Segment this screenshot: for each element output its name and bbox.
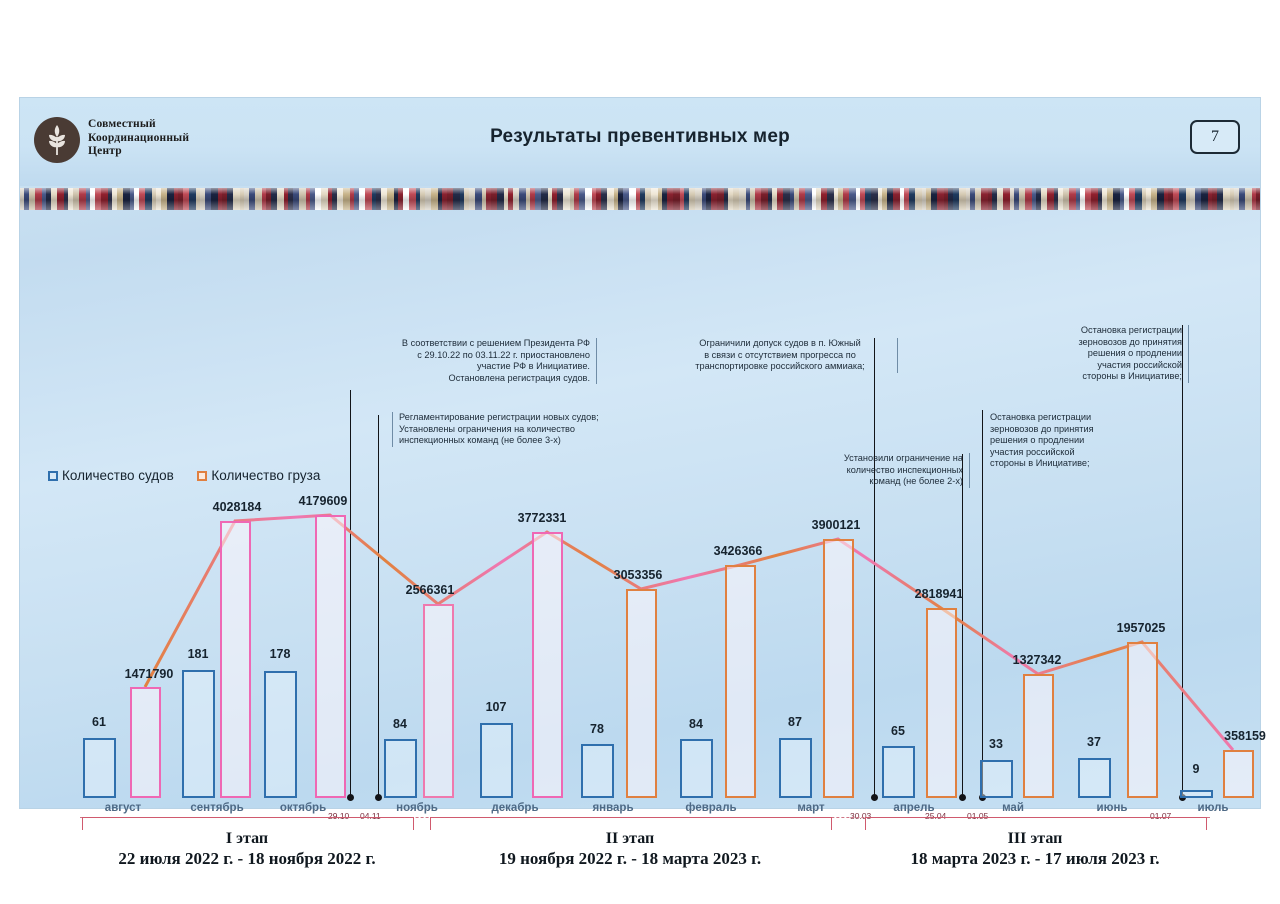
value-label-ships-10: 37 xyxy=(1073,735,1115,749)
value-label-cargo-9: 1327342 xyxy=(992,653,1082,667)
ribbon-segment xyxy=(497,188,504,210)
ribbon-segment xyxy=(1025,188,1032,210)
value-label-ships-7: 87 xyxy=(774,715,816,729)
ribbon-segment xyxy=(651,188,658,210)
stage-bracket-2 xyxy=(430,817,832,830)
value-label-ships-4: 107 xyxy=(475,700,517,714)
ribbon-segment xyxy=(123,188,130,210)
ribbon-segment xyxy=(1003,188,1010,210)
ribbon-segment xyxy=(541,188,548,210)
ribbon-segment xyxy=(1091,188,1098,210)
ribbon-segment xyxy=(1223,188,1230,210)
ribbon-segment xyxy=(1047,188,1054,210)
decorative-ribbon xyxy=(20,188,1260,210)
bar-ships-2 xyxy=(264,671,297,798)
ribbon-segment xyxy=(1113,188,1120,210)
bar-ships-9 xyxy=(980,760,1013,798)
stage-bracket-3 xyxy=(865,817,1207,830)
bar-cargo-7 xyxy=(823,539,854,798)
bar-cargo-5 xyxy=(626,589,657,798)
ribbon-segment xyxy=(79,188,86,210)
ribbon-segment xyxy=(783,188,790,210)
value-label-ships-9: 33 xyxy=(975,737,1017,751)
stage-1: I этап 22 июля 2022 г. - 18 ноября 2022 … xyxy=(52,830,442,869)
value-label-ships-2: 178 xyxy=(259,647,301,661)
value-label-cargo-0: 1471790 xyxy=(104,667,194,681)
ribbon-segment xyxy=(321,188,328,210)
value-label-cargo-10: 1957025 xyxy=(1096,621,1186,635)
stage-2-period: 19 ноября 2022 г. - 18 марта 2023 г. xyxy=(435,849,825,869)
bar-ships-5 xyxy=(581,744,614,798)
stage-bracket-1 xyxy=(82,817,414,830)
bar-cargo-1 xyxy=(220,521,251,798)
bar-ships-0 xyxy=(83,738,116,798)
ribbon-segment xyxy=(233,188,240,210)
bar-cargo-10 xyxy=(1127,642,1158,798)
ribbon-segment xyxy=(365,188,372,210)
stage-3: III этап 18 марта 2023 г. - 17 июля 2023… xyxy=(840,830,1230,869)
ribbon-segment xyxy=(827,188,834,210)
ribbon-segment xyxy=(211,188,218,210)
ribbon-segment xyxy=(57,188,64,210)
ribbon-segment xyxy=(673,188,680,210)
ribbon-segment xyxy=(409,188,416,210)
bar-ships-4 xyxy=(480,723,513,798)
value-label-ships-1: 181 xyxy=(177,647,219,661)
ribbon-segment xyxy=(761,188,768,210)
value-label-cargo-5: 3053356 xyxy=(593,568,683,582)
value-label-ships-3: 84 xyxy=(379,717,421,731)
ribbon-segment xyxy=(805,188,812,210)
stage-1-period: 22 июля 2022 г. - 18 ноября 2022 г. xyxy=(52,849,442,869)
stage-2-name: II этап xyxy=(435,830,825,848)
value-label-cargo-3: 2566361 xyxy=(385,583,475,597)
ribbon-segment xyxy=(145,188,152,210)
value-label-ships-6: 84 xyxy=(675,717,717,731)
ribbon-segment xyxy=(1245,188,1252,210)
ribbon-segment xyxy=(277,188,284,210)
stage-2: II этап 19 ноября 2022 г. - 18 марта 202… xyxy=(435,830,825,869)
bar-cargo-9 xyxy=(1023,674,1054,798)
bar-ships-7 xyxy=(779,738,812,798)
bar-cargo-11 xyxy=(1223,750,1254,798)
stage-3-name: III этап xyxy=(840,830,1230,848)
stage-3-period: 18 марта 2023 г. - 17 июля 2023 г. xyxy=(840,849,1230,869)
ribbon-segment xyxy=(35,188,42,210)
stage-1-name: I этап xyxy=(52,830,442,848)
bar-cargo-6 xyxy=(725,565,756,798)
ribbon-segment xyxy=(387,188,394,210)
ribbon-segment xyxy=(607,188,614,210)
value-label-ships-0: 61 xyxy=(78,715,120,729)
chart-area: Количество судов Количество груза В соот… xyxy=(20,210,1260,808)
bar-cargo-3 xyxy=(423,604,454,798)
ribbon-segment xyxy=(915,188,922,210)
ribbon-segment xyxy=(1069,188,1076,210)
value-label-cargo-8: 2818941 xyxy=(894,587,984,601)
ribbon-segment xyxy=(475,188,482,210)
value-label-ships-5: 78 xyxy=(576,722,618,736)
ribbon-segment xyxy=(255,188,262,210)
ribbon-segment xyxy=(695,188,702,210)
ribbon-segment xyxy=(629,188,636,210)
value-label-ships-11: 9 xyxy=(1175,762,1217,776)
slide: Совместный Координационный Центр Результ… xyxy=(20,98,1260,808)
stage-bracket-area: I этап 22 июля 2022 г. - 18 ноября 2022 … xyxy=(20,808,1260,898)
bar-cargo-4 xyxy=(532,532,563,798)
bar-ships-8 xyxy=(882,746,915,798)
value-label-cargo-7: 3900121 xyxy=(791,518,881,532)
value-label-cargo-4: 3772331 xyxy=(497,511,587,525)
bar-ships-10 xyxy=(1078,758,1111,798)
bar-ships-11 xyxy=(1180,790,1213,798)
ribbon-segment xyxy=(739,188,746,210)
ribbon-segment xyxy=(1256,188,1260,210)
ribbon-segment xyxy=(937,188,944,210)
slide-header: Совместный Координационный Центр Результ… xyxy=(20,98,1260,186)
ribbon-segment xyxy=(981,188,988,210)
ribbon-segment xyxy=(299,188,306,210)
value-label-ships-8: 65 xyxy=(877,724,919,738)
ribbon-segment xyxy=(431,188,438,210)
ribbon-segment xyxy=(1179,188,1186,210)
ribbon-segment xyxy=(101,188,108,210)
ribbon-segment xyxy=(717,188,724,210)
page-title: Результаты превентивных мер xyxy=(20,126,1260,148)
ribbon-segment xyxy=(1135,188,1142,210)
ribbon-segment xyxy=(1201,188,1208,210)
ribbon-segment xyxy=(959,188,966,210)
value-label-cargo-11: 358159 xyxy=(1200,729,1280,743)
ribbon-segment xyxy=(849,188,856,210)
ribbon-segment xyxy=(343,188,350,210)
bar-ships-3 xyxy=(384,739,417,798)
bar-ships-1 xyxy=(182,670,215,798)
ribbon-segment xyxy=(893,188,900,210)
ribbon-segment xyxy=(519,188,526,210)
value-label-cargo-1: 4028184 xyxy=(192,500,282,514)
page-number-badge: 7 xyxy=(1190,120,1240,154)
value-label-cargo-2: 4179609 xyxy=(278,494,368,508)
ribbon-segment xyxy=(189,188,196,210)
bar-cargo-8 xyxy=(926,608,957,798)
bar-cargo-0 xyxy=(130,687,161,798)
value-label-cargo-6: 3426366 xyxy=(693,544,783,558)
ribbon-segment xyxy=(453,188,460,210)
ribbon-segment xyxy=(585,188,592,210)
ribbon-segment xyxy=(871,188,878,210)
ribbon-segment xyxy=(563,188,570,210)
ribbon-segment xyxy=(1157,188,1164,210)
bar-cargo-2 xyxy=(315,515,346,798)
bar-ships-6 xyxy=(680,739,713,798)
ribbon-segment xyxy=(167,188,174,210)
